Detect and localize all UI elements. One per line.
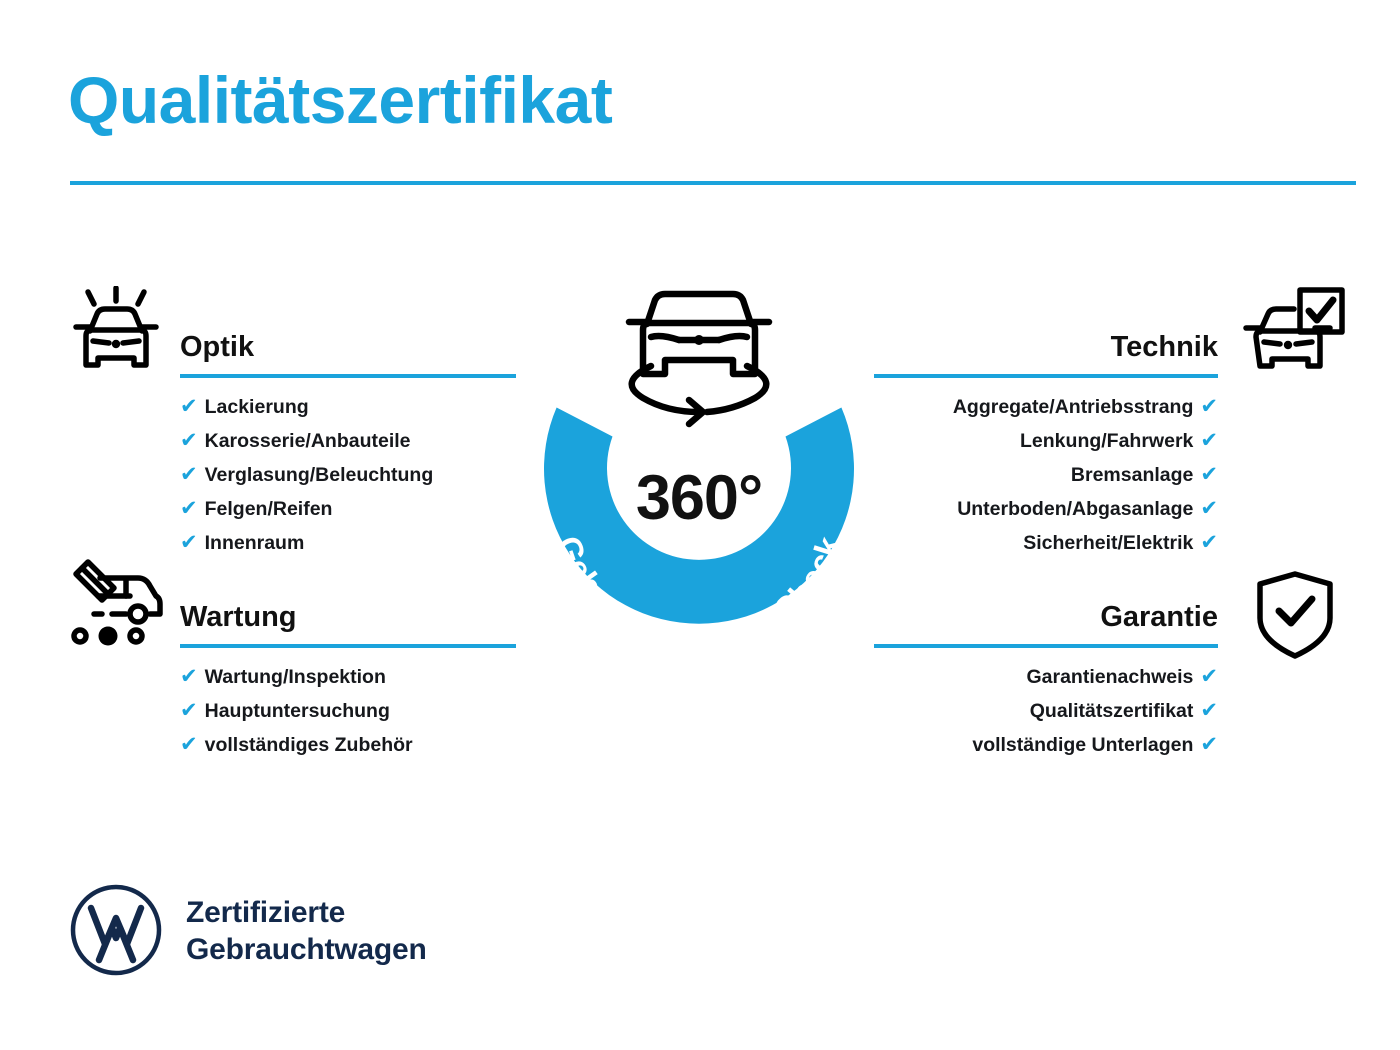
list-item-label: Unterboden/Abgasanlage bbox=[957, 498, 1193, 520]
footer-wordmark-line1: Zertifizierte bbox=[186, 894, 427, 931]
check-icon: ✔ bbox=[180, 660, 198, 693]
footer-wordmark-line2: Gebrauchtwagen bbox=[186, 931, 427, 968]
list-item-label: vollständige Unterlagen bbox=[972, 734, 1193, 756]
check-icon: ✔ bbox=[1200, 526, 1218, 559]
check-icon: ✔ bbox=[180, 526, 198, 559]
check-icon: ✔ bbox=[1200, 694, 1218, 727]
section-optik-header: Optik bbox=[180, 326, 516, 378]
badge-center-label: 360° bbox=[508, 462, 890, 534]
list-item: Qualitätszertifikat✔ bbox=[874, 694, 1218, 728]
page-title: Qualitätszertifikat bbox=[68, 66, 612, 135]
car-front-shine-icon bbox=[64, 286, 168, 382]
footer-wordmark: Zertifizierte Gebrauchtwagen bbox=[186, 894, 427, 968]
list-item: ✔Lackierung bbox=[180, 390, 516, 424]
quality-certificate-page: Qualitätszertifikat bbox=[0, 0, 1400, 1050]
check-icon: ✔ bbox=[180, 424, 198, 457]
list-item-label: Garantienachweis bbox=[1026, 666, 1193, 688]
section-technik: Technik Aggregate/Antriebsstrang✔ Lenkun… bbox=[874, 326, 1218, 560]
section-technik-title: Technik bbox=[874, 326, 1218, 368]
list-item: ✔Karosserie/Anbauteile bbox=[180, 424, 516, 458]
section-garantie-title: Garantie bbox=[874, 596, 1218, 638]
section-garantie: Garantie Garantienachweis✔ Qualitätszert… bbox=[874, 596, 1218, 762]
list-item: Garantienachweis✔ bbox=[874, 660, 1218, 694]
check-icon: ✔ bbox=[1200, 424, 1218, 457]
list-item: ✔Hauptuntersuchung bbox=[180, 694, 516, 728]
section-technik-header: Technik bbox=[874, 326, 1218, 378]
list-item-label: Lenkung/Fahrwerk bbox=[1020, 430, 1193, 452]
check-icon: ✔ bbox=[180, 458, 198, 491]
check-icon: ✔ bbox=[180, 728, 198, 761]
check-icon: ✔ bbox=[180, 390, 198, 423]
car-front-checkbox-icon bbox=[1242, 286, 1346, 382]
check-icon: ✔ bbox=[1200, 458, 1218, 491]
section-garantie-list: Garantienachweis✔ Qualitätszertifikat✔ v… bbox=[874, 660, 1218, 762]
list-item: Lenkung/Fahrwerk✔ bbox=[874, 424, 1218, 458]
check-icon: ✔ bbox=[180, 492, 198, 525]
section-garantie-header: Garantie bbox=[874, 596, 1218, 648]
list-item-label: Felgen/Reifen bbox=[205, 498, 333, 520]
list-item: ✔vollständiges Zubehör bbox=[180, 728, 516, 762]
list-item-label: Wartung/Inspektion bbox=[205, 666, 386, 688]
list-item: ✔Verglasung/Beleuchtung bbox=[180, 458, 516, 492]
check-icon: ✔ bbox=[1200, 390, 1218, 423]
list-item-label: Karosserie/Anbauteile bbox=[205, 430, 411, 452]
section-wartung-title: Wartung bbox=[180, 596, 516, 638]
section-wartung-list: ✔Wartung/Inspektion ✔Hauptuntersuchung ✔… bbox=[180, 660, 516, 762]
vw-logo-icon bbox=[68, 882, 164, 978]
check-icon: ✔ bbox=[1200, 492, 1218, 525]
footer-logo: Zertifizierte Gebrauchtwagen bbox=[68, 882, 428, 982]
section-technik-divider bbox=[874, 374, 1218, 378]
section-optik-title: Optik bbox=[180, 326, 516, 368]
list-item-label: Verglasung/Beleuchtung bbox=[205, 464, 434, 486]
title-divider bbox=[70, 181, 1356, 185]
list-item: ✔Wartung/Inspektion bbox=[180, 660, 516, 694]
list-item-label: Bremsanlage bbox=[1071, 464, 1193, 486]
list-item: Sicherheit/Elektrik✔ bbox=[874, 526, 1218, 560]
section-optik-list: ✔Lackierung ✔Karosserie/Anbauteile ✔Verg… bbox=[180, 390, 516, 560]
section-optik-divider bbox=[180, 374, 516, 378]
section-wartung: Wartung ✔Wartung/Inspektion ✔Hauptunters… bbox=[180, 596, 516, 762]
section-optik: Optik ✔Lackierung ✔Karosserie/Anbauteile… bbox=[180, 326, 516, 560]
section-wartung-header: Wartung bbox=[180, 596, 516, 648]
list-item-label: Hauptuntersuchung bbox=[205, 700, 390, 722]
list-item-label: Lackierung bbox=[205, 396, 309, 418]
list-item-label: vollständiges Zubehör bbox=[205, 734, 413, 756]
check-icon: ✔ bbox=[180, 694, 198, 727]
section-technik-list: Aggregate/Antriebsstrang✔ Lenkung/Fahrwe… bbox=[874, 390, 1218, 560]
list-item-label: Sicherheit/Elektrik bbox=[1023, 532, 1193, 554]
list-item: Bremsanlage✔ bbox=[874, 458, 1218, 492]
section-garantie-divider bbox=[874, 644, 1218, 648]
check-icon: ✔ bbox=[1200, 728, 1218, 761]
list-item: ✔Felgen/Reifen bbox=[180, 492, 516, 526]
shield-check-icon bbox=[1252, 568, 1338, 664]
check-icon: ✔ bbox=[1200, 660, 1218, 693]
list-item-label: Innenraum bbox=[205, 532, 305, 554]
list-item: vollständige Unterlagen✔ bbox=[874, 728, 1218, 762]
pencil-car-service-icon bbox=[64, 558, 168, 654]
list-item: ✔Innenraum bbox=[180, 526, 516, 560]
360-check-badge: Gebrauchtwagen-Check bbox=[508, 276, 890, 676]
section-wartung-divider bbox=[180, 644, 516, 648]
list-item-label: Qualitätszertifikat bbox=[1030, 700, 1194, 722]
list-item: Unterboden/Abgasanlage✔ bbox=[874, 492, 1218, 526]
list-item: Aggregate/Antriebsstrang✔ bbox=[874, 390, 1218, 424]
list-item-label: Aggregate/Antriebsstrang bbox=[953, 396, 1194, 418]
